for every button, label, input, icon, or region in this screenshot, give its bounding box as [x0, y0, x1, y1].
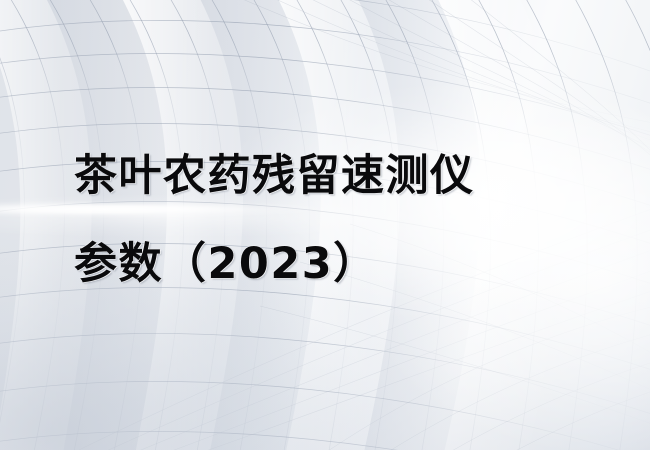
- slide-title-line-2: 参数（2023）: [74, 220, 594, 308]
- title-slide: 茶叶农药残留速测仪 参数（2023）: [0, 0, 650, 450]
- slide-title: 茶叶农药残留速测仪 参数（2023）: [74, 132, 594, 308]
- slide-title-line-1: 茶叶农药残留速测仪: [74, 132, 594, 220]
